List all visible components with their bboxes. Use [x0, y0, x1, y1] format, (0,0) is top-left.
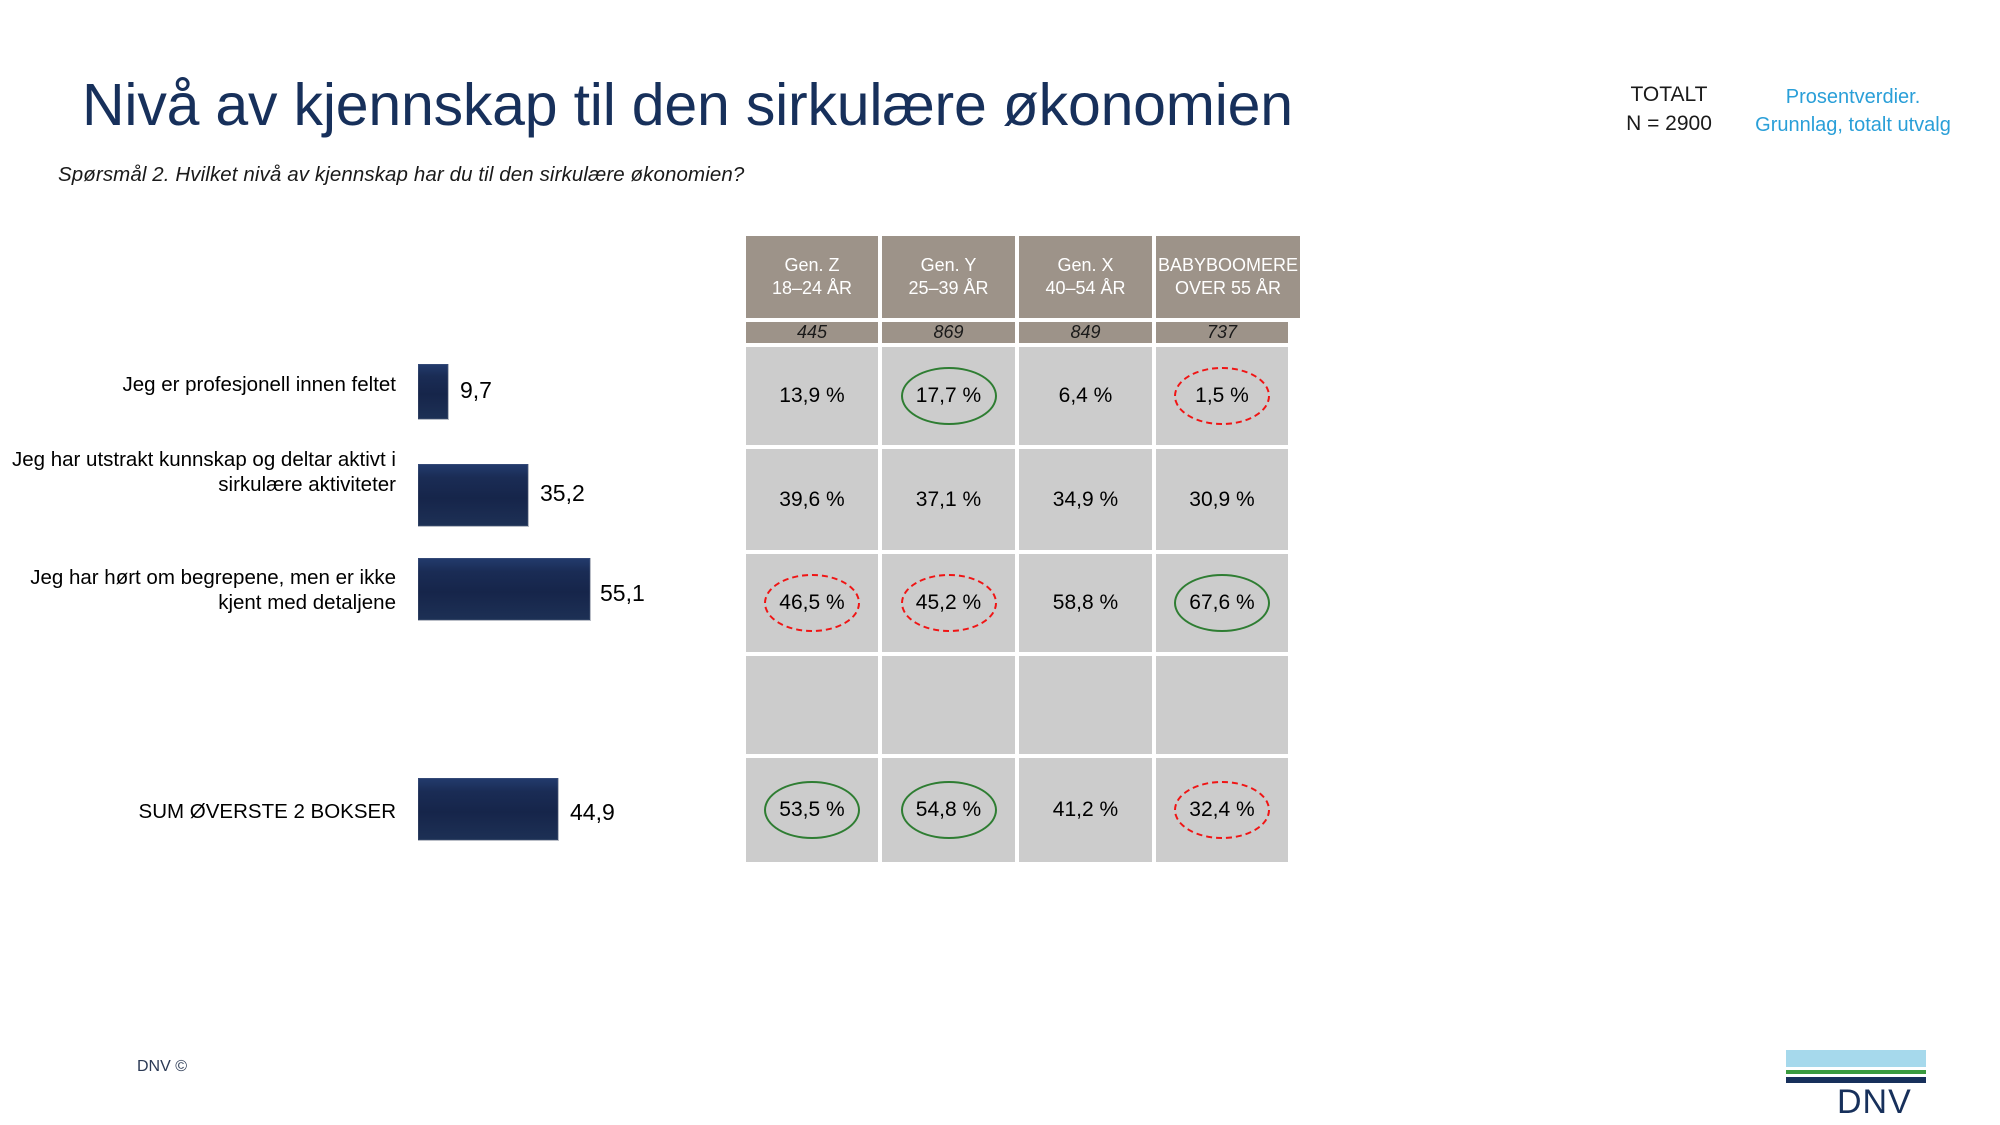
- total-n-value: N = 2900: [1596, 110, 1742, 139]
- table-cell: 39,6 %: [746, 449, 878, 550]
- cell-value: 67,6 %: [1189, 591, 1254, 615]
- table-column-header: BABYBOOMERE OVER 55 ÅR: [1156, 236, 1300, 318]
- percent-note-line2: Grunnlag, totalt utvalg: [1728, 111, 1978, 139]
- logo-stripe-green: [1786, 1070, 1926, 1074]
- base-size-cell: 445: [746, 322, 878, 343]
- table-row: 53,5 % 54,8 % 41,2 % 32,4 %: [746, 758, 1292, 862]
- table-row: 39,6 % 37,1 % 34,9 % 30,9 %: [746, 449, 1292, 550]
- cell-value: 34,9 %: [1053, 488, 1118, 512]
- percent-note-line1: Prosentverdier.: [1728, 83, 1978, 111]
- table-cell: [1156, 656, 1288, 754]
- table-cell: 45,2 %: [882, 554, 1015, 652]
- table-cell: [882, 656, 1015, 754]
- total-base-block: TOTALT N = 2900: [1596, 81, 1742, 139]
- cell-value: 53,5 %: [779, 798, 844, 822]
- column-age: 18–24 ÅR: [772, 277, 852, 300]
- cell-value: 39,6 %: [779, 488, 844, 512]
- total-label: TOTALT: [1596, 81, 1742, 110]
- bar-value-label: 35,2: [540, 480, 585, 507]
- table-cell: 67,6 %: [1156, 554, 1288, 652]
- cell-value: 17,7 %: [916, 384, 981, 408]
- bar-chart: Jeg er profesjonell innen feltet 9,7 Jeg…: [0, 0, 700, 1000]
- table-base-row: 445 869 849 737: [746, 322, 1292, 343]
- table-column-header: Gen. Z 18–24 ÅR: [746, 236, 878, 318]
- cell-value: 1,5 %: [1195, 384, 1249, 408]
- bar-category-label: Jeg har utstrakt kunnskap og deltar akti…: [0, 447, 396, 497]
- table-row: 46,5 % 45,2 % 58,8 % 67,6 %: [746, 554, 1292, 652]
- cell-value: 54,8 %: [916, 798, 981, 822]
- table-cell: 1,5 %: [1156, 347, 1288, 445]
- cell-value: 45,2 %: [916, 591, 981, 615]
- table-cell: 6,4 %: [1019, 347, 1152, 445]
- column-name: Gen. X: [1045, 254, 1125, 277]
- table-cell: 32,4 %: [1156, 758, 1288, 862]
- table-cell: 30,9 %: [1156, 449, 1288, 550]
- bar-category-label: Jeg er profesjonell innen feltet: [0, 372, 396, 397]
- bar-category-label: Jeg har hørt om begrepene, men er ikke k…: [0, 565, 396, 615]
- bar-rect: [418, 364, 449, 420]
- table-cell: 17,7 %: [882, 347, 1015, 445]
- cell-value: 32,4 %: [1189, 798, 1254, 822]
- column-name: Gen. Y: [908, 254, 988, 277]
- bar-rect: [418, 558, 591, 621]
- bar-value-label: 9,7: [460, 377, 492, 404]
- base-size-cell: 869: [882, 322, 1015, 343]
- cell-value: 37,1 %: [916, 488, 981, 512]
- table-cell: [746, 656, 878, 754]
- dnv-logo: DNV: [1786, 1050, 1926, 1112]
- table-cell: 46,5 %: [746, 554, 878, 652]
- base-size-cell: 849: [1019, 322, 1152, 343]
- table-cell: [1019, 656, 1152, 754]
- base-size-cell: 737: [1156, 322, 1288, 343]
- bar-rect: [418, 778, 559, 841]
- cell-value: 30,9 %: [1189, 488, 1254, 512]
- logo-stripe-light-blue: [1786, 1050, 1926, 1067]
- table-row: 13,9 % 17,7 % 6,4 % 1,5 %: [746, 347, 1292, 445]
- table-cell: 34,9 %: [1019, 449, 1152, 550]
- column-age: 25–39 ÅR: [908, 277, 988, 300]
- table-cell: 58,8 %: [1019, 554, 1152, 652]
- column-name: BABYBOOMERE: [1158, 254, 1298, 277]
- table-row: [746, 656, 1292, 754]
- cell-value: 6,4 %: [1059, 384, 1113, 408]
- column-age: OVER 55 ÅR: [1158, 277, 1298, 300]
- table-cell: 53,5 %: [746, 758, 878, 862]
- footer-copyright: DNV ©: [137, 1058, 187, 1076]
- bar-rect: [418, 464, 529, 527]
- bar-value-label: 44,9: [570, 799, 615, 826]
- column-name: Gen. Z: [772, 254, 852, 277]
- bar-value-label: 55,1: [600, 580, 645, 607]
- cell-value: 13,9 %: [779, 384, 844, 408]
- bar-category-label: SUM ØVERSTE 2 BOKSER: [0, 799, 396, 824]
- cell-value: 58,8 %: [1053, 591, 1118, 615]
- table-header-row: Gen. Z 18–24 ÅR Gen. Y 25–39 ÅR Gen. X 4…: [746, 236, 1292, 318]
- percent-note-block: Prosentverdier. Grunnlag, totalt utvalg: [1728, 83, 1978, 139]
- column-age: 40–54 ÅR: [1045, 277, 1125, 300]
- table-column-header: Gen. Y 25–39 ÅR: [882, 236, 1015, 318]
- cell-value: 41,2 %: [1053, 798, 1118, 822]
- generation-breakdown-table: Gen. Z 18–24 ÅR Gen. Y 25–39 ÅR Gen. X 4…: [746, 236, 1292, 862]
- table-column-header: Gen. X 40–54 ÅR: [1019, 236, 1152, 318]
- cell-value: 46,5 %: [779, 591, 844, 615]
- table-cell: 54,8 %: [882, 758, 1015, 862]
- table-cell: 37,1 %: [882, 449, 1015, 550]
- logo-wordmark: DNV: [1837, 1083, 1912, 1122]
- table-cell: 13,9 %: [746, 347, 878, 445]
- table-cell: 41,2 %: [1019, 758, 1152, 862]
